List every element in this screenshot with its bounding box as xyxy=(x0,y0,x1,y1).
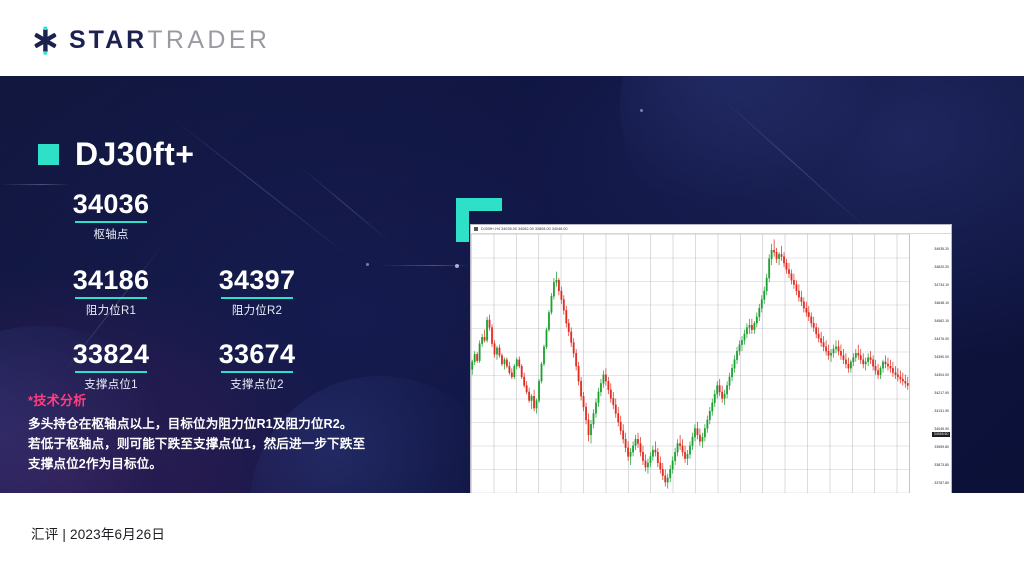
r2-label: 阻力位R2 xyxy=(184,302,330,318)
s1-stat: 33824 支撑点位1 xyxy=(38,340,184,392)
s1-value: 33824 xyxy=(38,340,184,369)
support-row: 33824 支撑点位1 33674 支撑点位2 xyxy=(38,340,368,392)
pivot-stat: 34036 枢轴点 xyxy=(38,190,184,242)
r1-value: 34186 xyxy=(38,266,184,295)
technical-analysis-block: *技术分析 多头持仓在枢轴点以上，目标位为阻力位R1及阻力位R2。 若低于枢轴点… xyxy=(28,390,428,475)
analysis-body: 多头持仓在枢轴点以上，目标位为阻力位R1及阻力位R2。 若低于枢轴点，则可能下跌… xyxy=(28,415,428,475)
main-panel: DJ30ft+ 34036 枢轴点 34186 阻力位R1 34397 xyxy=(0,76,1024,493)
price-tick: 33787.80 xyxy=(934,482,949,486)
price-tick: 33873.80 xyxy=(934,464,949,468)
s1-underline xyxy=(75,371,147,373)
analysis-line-1: 多头持仓在枢轴点以上，目标位为阻力位R1及阻力位R2。 xyxy=(28,415,428,435)
chart-window-icon xyxy=(474,227,478,231)
brand-logo: STAR TRADER xyxy=(31,26,270,55)
resistance-row: 34186 阻力位R1 34397 阻力位R2 xyxy=(38,266,368,318)
analysis-heading-text: 技术分析 xyxy=(33,393,86,408)
chart-titlebar-text: DJ30ft+,H4 34035.00 34082.00 33808.00 34… xyxy=(481,227,568,231)
chart-price-axis: 34935.2034820.2034734.1034648.1034562.10… xyxy=(909,234,951,493)
slide-canvas: STAR TRADER DJ30ft+ xyxy=(0,0,1024,576)
s2-value: 33674 xyxy=(184,340,330,369)
price-tick: 34734.10 xyxy=(934,284,949,288)
r2-stat: 34397 阻力位R2 xyxy=(184,266,330,318)
analysis-heading: *技术分析 xyxy=(28,390,428,409)
r1-underline xyxy=(75,297,147,299)
r2-value: 34397 xyxy=(184,266,330,295)
chart-plot-area xyxy=(471,234,909,493)
price-tick: 34476.00 xyxy=(934,338,949,342)
star-asterisk-icon xyxy=(31,26,60,55)
page-header: STAR TRADER xyxy=(0,0,1024,76)
pivot-underline xyxy=(75,221,147,223)
price-tick: 34820.20 xyxy=(934,266,949,270)
square-bullet-icon xyxy=(38,144,59,165)
price-tick: 34217.90 xyxy=(934,392,949,396)
page-title: DJ30ft+ xyxy=(75,136,194,173)
pivot-label: 枢轴点 xyxy=(38,226,184,242)
footer-caption: 汇评 | 2023年6月26日 xyxy=(31,523,165,543)
levels-block: 34036 枢轴点 34186 阻力位R1 34397 阻力位R2 xyxy=(38,190,368,392)
price-tick: 34935.20 xyxy=(934,248,949,252)
analysis-line-2: 若低于枢轴点，则可能下跌至支撑点位1，然后进一步下跌至 xyxy=(28,435,428,455)
price-chart[interactable]: DJ30ft+,H4 34035.00 34082.00 33808.00 34… xyxy=(470,224,952,493)
price-tick: 34648.10 xyxy=(934,302,949,306)
brand-name-bold: STAR xyxy=(69,26,147,55)
pivot-value: 34036 xyxy=(38,190,184,219)
price-tick: 34390.00 xyxy=(934,356,949,360)
brand-name-light: TRADER xyxy=(147,26,270,55)
price-tick: 34562.10 xyxy=(934,320,949,324)
r1-stat: 34186 阻力位R1 xyxy=(38,266,184,318)
price-tick: 34304.00 xyxy=(934,374,949,378)
page-footer: 汇评 | 2023年6月26日 xyxy=(0,493,1024,576)
current-price-tag: 34045.50 xyxy=(932,432,950,437)
pivot-row: 34036 枢轴点 xyxy=(38,190,368,242)
price-tick: 34131.90 xyxy=(934,410,949,414)
chart-titlebar: DJ30ft+,H4 34035.00 34082.00 33808.00 34… xyxy=(471,225,951,234)
s2-underline xyxy=(221,371,293,373)
r2-underline xyxy=(221,297,293,299)
instrument-title: DJ30ft+ xyxy=(38,136,194,173)
r1-label: 阻力位R1 xyxy=(38,302,184,318)
analysis-line-3: 支撑点位2作为目标位。 xyxy=(28,455,428,475)
price-tick: 33959.80 xyxy=(934,446,949,450)
s2-stat: 33674 支撑点位2 xyxy=(184,340,330,392)
